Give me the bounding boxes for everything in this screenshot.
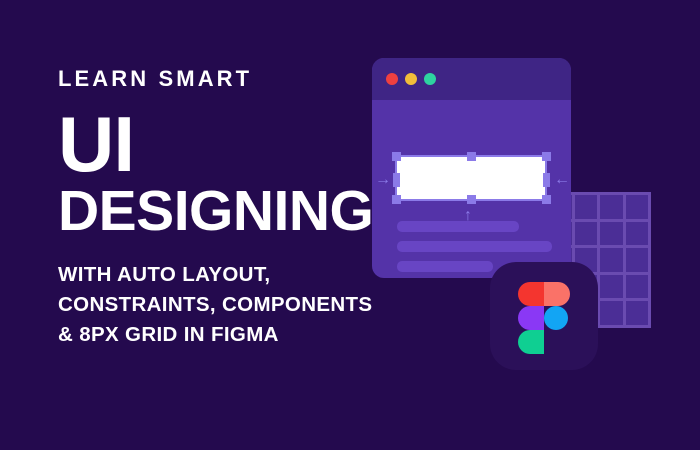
- resize-handle-top-right[interactable]: [542, 152, 551, 161]
- page-title-line-2: DESIGNING: [58, 180, 458, 242]
- resize-handle-middle-right[interactable]: [543, 173, 550, 187]
- resize-handle-top-middle[interactable]: [467, 152, 476, 161]
- resize-handle-bottom-right[interactable]: [542, 195, 551, 204]
- grid-cell: [626, 195, 648, 219]
- grid-cell: [626, 248, 648, 272]
- page-title-line-1: UI: [58, 108, 458, 180]
- subtitle-line-2: CONSTRAINTS, COMPONENTS: [58, 290, 458, 320]
- grid-cell: [626, 222, 648, 246]
- grid-cell: [600, 248, 622, 272]
- grid-cell: [575, 222, 597, 246]
- figma-logo-piece-top-left: [518, 282, 544, 306]
- figma-logo-icon: [518, 282, 570, 354]
- grid-cell: [600, 222, 622, 246]
- constraint-arrow-bottom-icon: ↑: [464, 208, 472, 224]
- constraint-arrow-right-icon: ←: [554, 172, 570, 188]
- grid-cell: [626, 301, 648, 325]
- grid-cell: [575, 195, 597, 219]
- subtitle-text: WITH AUTO LAYOUT, CONSTRAINTS, COMPONENT…: [58, 260, 458, 350]
- subtitle-line-3: & 8PX GRID IN FIGMA: [58, 320, 458, 350]
- kicker-text: LEARN SMART: [58, 66, 458, 92]
- subtitle-line-1: WITH AUTO LAYOUT,: [58, 260, 458, 290]
- grid-cell: [626, 275, 648, 299]
- headline-text-block: LEARN SMART UI DESIGNING WITH AUTO LAYOU…: [58, 66, 458, 350]
- figma-logo-piece-mid-left: [518, 306, 544, 330]
- figma-logo-piece-mid-right: [544, 306, 568, 330]
- figma-app-badge: [490, 262, 598, 370]
- grid-cell: [600, 275, 622, 299]
- grid-cell: [600, 195, 622, 219]
- grid-cell: [600, 301, 622, 325]
- figma-logo-piece-bottom-left: [518, 330, 544, 354]
- figma-logo-piece-top-right: [544, 282, 570, 306]
- poster-canvas: → ← ↑ LEARN SMART UI DESIGNING WITH AUTO…: [0, 0, 700, 450]
- resize-handle-bottom-middle[interactable]: [467, 195, 476, 204]
